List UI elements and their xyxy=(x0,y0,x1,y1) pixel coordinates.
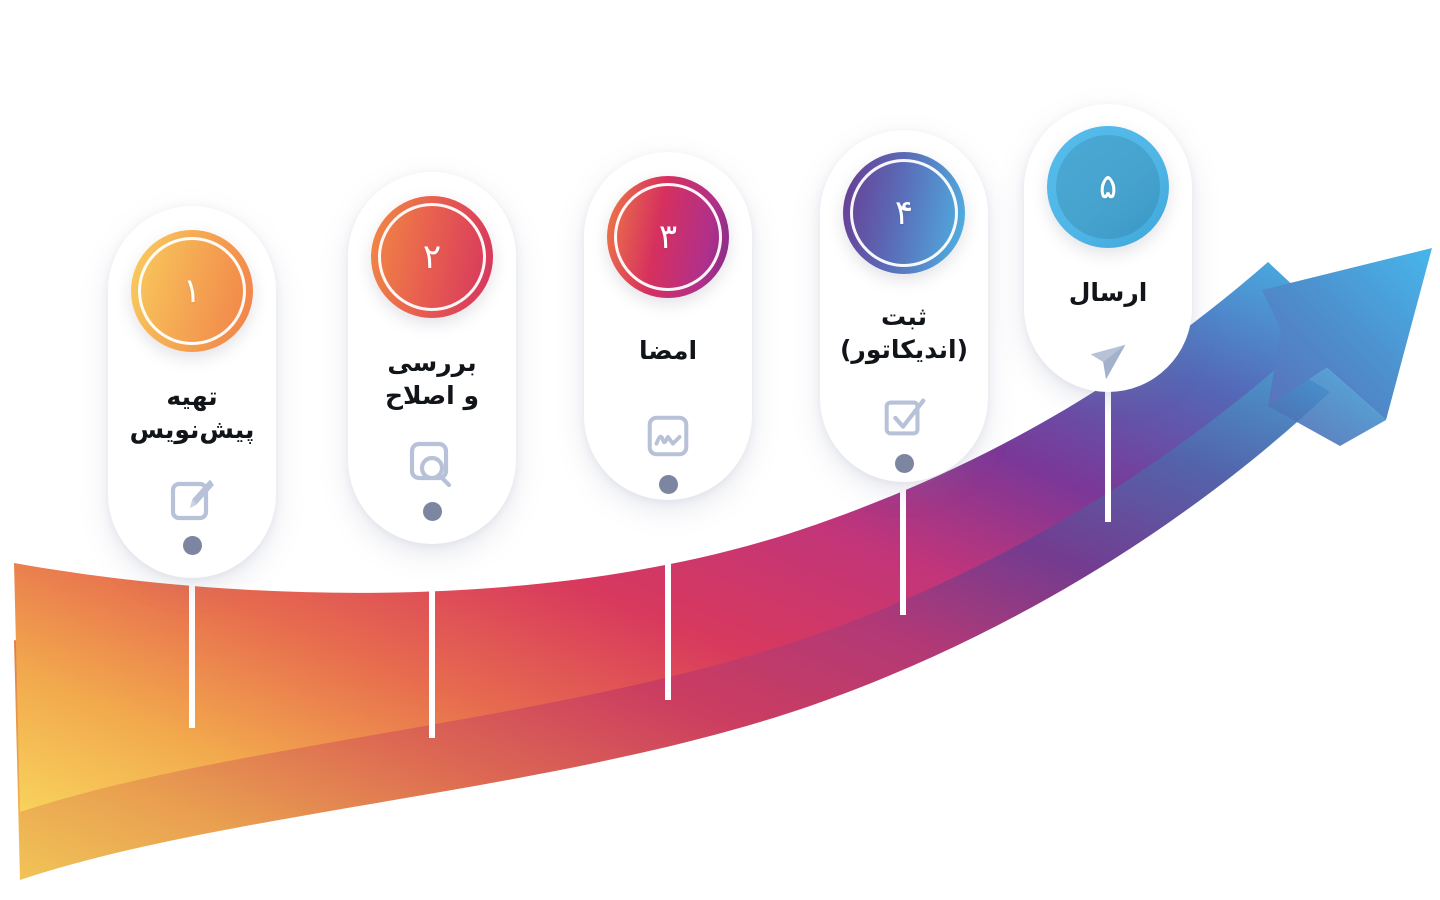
step-title-5: ارسال xyxy=(1069,276,1148,309)
step-title-1: تهیه پیش‌نویس xyxy=(130,380,255,446)
step-badge-wrap-2: ۲ xyxy=(371,196,493,318)
step-number-4: ۴ xyxy=(895,196,913,230)
step-stem-dot-2 xyxy=(423,502,442,521)
step-badge-4: ۴ xyxy=(843,152,965,274)
step-icon-wrap-2 xyxy=(406,438,458,490)
step-badge-1: ۱ xyxy=(131,230,253,352)
send-cursor-icon xyxy=(1083,337,1133,387)
step-stem-dot-1 xyxy=(183,536,202,555)
step-number-5: ۵ xyxy=(1099,170,1117,204)
step-card-5[interactable]: ۵ ارسال xyxy=(1024,104,1192,392)
step-stem-dot-4 xyxy=(895,454,914,473)
step-badge-2: ۲ xyxy=(371,196,493,318)
step-card-1[interactable]: ۱ تهیه پیش‌نویس xyxy=(108,206,276,578)
step-number-3: ۳ xyxy=(659,220,677,254)
step-number-2: ۲ xyxy=(423,240,441,274)
edit-document-icon xyxy=(166,472,218,524)
step-number-1: ۱ xyxy=(183,274,201,308)
signature-icon xyxy=(643,411,693,461)
step-badge-3: ۳ xyxy=(607,176,729,298)
step-icon-wrap-1 xyxy=(166,472,218,524)
step-badge-5: ۵ xyxy=(1047,126,1169,248)
infographic-stage: ۱ تهیه پیش‌نویس ۲ بررسی و اصلاح xyxy=(0,0,1440,900)
step-card-2[interactable]: ۲ بررسی و اصلاح xyxy=(348,172,516,544)
step-card-3[interactable]: ۳ امضا xyxy=(584,152,752,500)
checkbox-check-icon xyxy=(879,392,929,442)
step-stem-dot-3 xyxy=(659,475,678,494)
review-search-icon xyxy=(406,438,458,490)
step-icon-wrap-4 xyxy=(879,392,929,442)
step-icon-wrap-3 xyxy=(643,411,693,461)
step-title-3: امضا xyxy=(639,334,697,367)
step-badge-wrap-3: ۳ xyxy=(607,176,729,298)
step-badge-wrap-5: ۵ xyxy=(1047,126,1169,248)
steps-container: ۱ تهیه پیش‌نویس ۲ بررسی و اصلاح xyxy=(0,0,1440,900)
step-title-4: ثبت (اندیکاتور) xyxy=(840,300,968,366)
step-icon-wrap-5 xyxy=(1083,337,1133,387)
step-badge-wrap-4: ۴ xyxy=(843,152,965,274)
step-badge-wrap-1: ۱ xyxy=(131,230,253,352)
step-card-4[interactable]: ۴ ثبت (اندیکاتور) xyxy=(820,130,988,482)
step-title-2: بررسی و اصلاح xyxy=(385,346,479,412)
